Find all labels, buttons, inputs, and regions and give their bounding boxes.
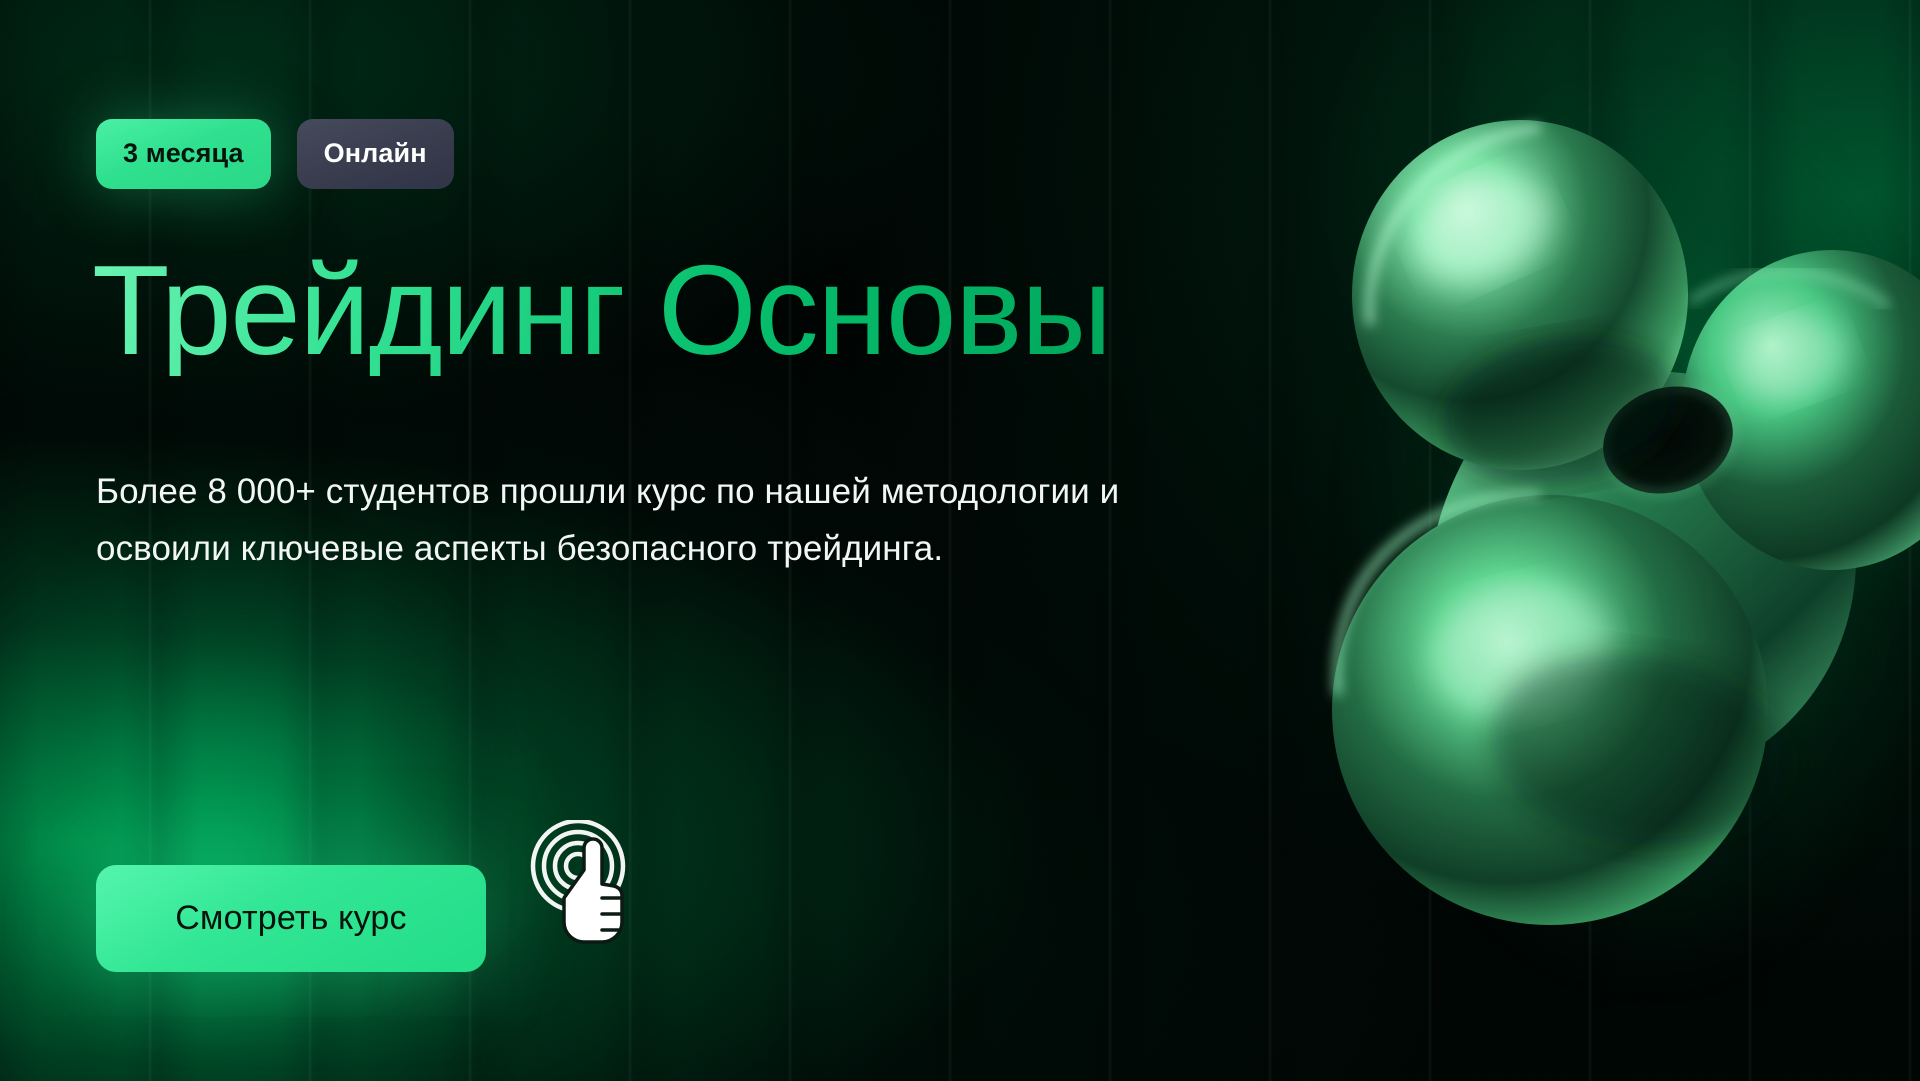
hero-content: 3 месяца Онлайн Трейдинг Основы Более 8 … (96, 0, 1336, 1081)
page-title: Трейдинг Основы (92, 246, 1111, 376)
badge-row: 3 месяца Онлайн (96, 119, 454, 189)
hero-section: 3 месяца Онлайн Трейдинг Основы Более 8 … (0, 0, 1920, 1081)
hero-subtitle: Более 8 000+ студентов прошли курс по на… (96, 464, 1226, 577)
badge-duration[interactable]: 3 месяца (96, 119, 271, 189)
tap-hand-pointer-icon (526, 820, 676, 970)
view-course-button[interactable]: Смотреть курс (96, 865, 486, 972)
badge-format[interactable]: Онлайн (297, 119, 454, 189)
